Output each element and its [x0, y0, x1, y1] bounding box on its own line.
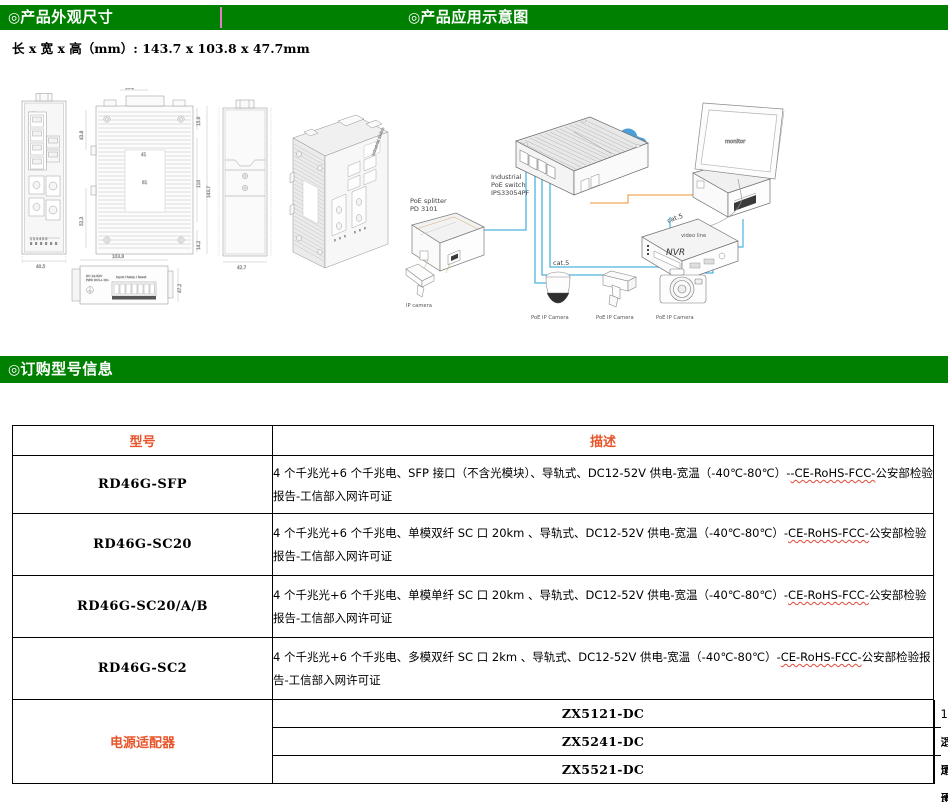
desc-text: 4 个千兆光+6 个千兆电、多模双纤 SC 口 2km 、导轨式、DC12-52… — [273, 650, 781, 664]
side-view: 42.7 — [219, 100, 271, 270]
section-header-ordering: ◎订购型号信息 — [8, 357, 113, 383]
dim-label-110: 110 — [196, 180, 201, 188]
mechanical-drawing-svg: Industrial Switch — [8, 88, 398, 328]
isometric-view: Industrial Switch — [290, 115, 388, 268]
dim-label-41: 41 — [141, 152, 147, 157]
desc-cert-flagged: CE-RoHS-FCC- — [781, 650, 862, 664]
model-name: RD46G-SC20/A/B — [13, 576, 273, 638]
switch-label-line3: IPS33054PF — [491, 189, 530, 197]
switch-label-line2: PoE switch — [491, 181, 526, 189]
switch-label-line1: Industrial — [491, 173, 522, 181]
desc-cert-flagged: CE-RoHS-FCC- — [788, 588, 869, 602]
section-header-dimensions: ◎产品外观尺寸 — [8, 5, 113, 31]
svg-text:PWR DC1+ DC-: PWR DC1+ DC- — [86, 278, 109, 282]
nvr-label: NVR — [666, 248, 685, 258]
front-view: Industrial Switch — [22, 94, 66, 270]
bullet-icon: ◎ — [8, 362, 20, 378]
bullet-ip-camera — [406, 264, 434, 297]
adapter-model: ZX5121-DC — [273, 700, 934, 728]
poe-splitter-device: PoE splitter PD 3101 IP camera — [406, 197, 484, 309]
section-header-application: ◎产品应用示意图 — [408, 5, 529, 31]
model-description: 4 个千兆光+6 个千兆电、SFP 接口（不含光模块）、导轨式、DC12-52V… — [273, 456, 934, 514]
dim-label-1038: 103.8 — [112, 254, 124, 259]
page-root: ◎产品外观尺寸 ◎产品应用示意图 长 x 宽 x 高（mm）: 143.7 x … — [0, 0, 948, 802]
adapter-description: 52V/1A，适用于 1 端口内 POE 供电和非 POE 工业交换机产品系列 — [934, 756, 941, 784]
desc-text: 4 个千兆光+6 个千兆电、单模单纤 SC 口 20km 、导轨式、DC12-5… — [273, 588, 788, 602]
bullet-icon: ◎ — [8, 10, 20, 26]
nvr-device: NVR — [642, 219, 738, 281]
adapter-description-group: 12V/1A，适用于非 POE 工业交换机产品系列。 24V/1A，适用于非 P… — [934, 700, 935, 784]
fiber-cable — [590, 195, 693, 203]
poe-switch-device: Industrial PoE switch IPS33054PF — [491, 117, 648, 197]
ordering-information-table: 型号 描述 RD46G-SFP 4 个千兆光+6 个千兆电、SFP 接口（不含光… — [12, 425, 934, 784]
monitor-label: monitor — [725, 139, 746, 145]
bottom-view: DC 12-52V PWR DC1+ DC- Input / Relay / R… — [72, 254, 182, 304]
section-title-application: 产品应用示意图 — [420, 5, 529, 30]
splitter-label-line1: PoE splitter — [410, 197, 447, 205]
dim-label-472: 47.2 — [177, 283, 182, 293]
section-bar-top: ◎产品外观尺寸 ◎产品应用示意图 — [0, 5, 948, 30]
application-diagram-group: 广域网 — [398, 95, 943, 325]
section-title-dimensions: 产品外观尺寸 — [20, 5, 113, 30]
camera-1-label: PoE IP Camera — [531, 315, 569, 321]
table-header-row: 型号 描述 — [13, 426, 934, 456]
table-row: RD46G-SFP 4 个千兆光+6 个千兆电、SFP 接口（不含光模块）、导轨… — [13, 456, 934, 514]
dim-label-width-front: 40.5 — [36, 264, 46, 269]
poe-ip-camera-1 — [546, 272, 570, 303]
adapter-description: 24V/1A，适用于非 POE 工业交换机产品系列。 — [934, 728, 941, 756]
cable-label-center: cat.5 — [553, 259, 569, 267]
section-bar-order: ◎订购型号信息 — [0, 356, 948, 383]
ip-camera-label: IP camera — [406, 303, 432, 309]
dim-label-61: 61 — [142, 180, 148, 185]
video-line-label: video line — [681, 233, 706, 239]
table-row: RD46G-SC20 4 个千兆光+6 个千兆电、单模双纤 SC 口 20km … — [13, 514, 934, 576]
svg-text:Input / Relay / Reset: Input / Relay / Reset — [116, 275, 147, 279]
svg-text:1 2 3 4 5 6: 1 2 3 4 5 6 — [30, 237, 47, 241]
table-row: 电源适配器 ZX5121-DC — [13, 700, 934, 728]
model-name: RD46G-SC20 — [13, 514, 273, 576]
dim-label-438: 43.8 — [79, 130, 84, 140]
model-description: 4 个千兆光+6 个千兆电、单模双纤 SC 口 20km 、导轨式、DC12-5… — [273, 514, 934, 576]
desc-text: 4 个千兆光+6 个千兆电、SFP 接口（不含光模块）、导轨式、DC12-52V… — [273, 466, 790, 480]
column-header-description: 描述 — [273, 426, 934, 456]
dim-label-142: 14.2 — [196, 240, 201, 250]
dim-label-1437: 143.7 — [206, 186, 211, 198]
desc-cert-flagged: CE-RoHS-FCC- — [788, 526, 869, 540]
adapter-group-label: 电源适配器 — [13, 700, 273, 784]
splitter-label-line2: PD 3101 — [410, 205, 438, 213]
mechanical-drawing-group: Industrial Switch — [8, 88, 398, 328]
model-description: 4 个千兆光+6 个千兆电、多模双纤 SC 口 2km 、导轨式、DC12-52… — [273, 638, 934, 700]
top-view: 41 61 43.8 52.3 1 — [79, 88, 211, 254]
desc-cert-flagged: -CE-RoHS-FCC- — [790, 466, 875, 480]
dim-label-159: 15.9 — [196, 116, 201, 126]
cable-label-right: cat.5 — [666, 212, 684, 225]
dim-label-192: 19.2 — [125, 88, 135, 90]
poe-ip-camera-2 — [603, 271, 636, 307]
camera-2-label: PoE IP Camera — [596, 315, 634, 321]
dim-label-523: 52.3 — [79, 216, 84, 226]
model-name: RD46G-SC2 — [13, 638, 273, 700]
column-header-model: 型号 — [13, 426, 273, 456]
application-diagram-svg: 广域网 — [398, 95, 943, 325]
dim-label-427: 42.7 — [237, 265, 247, 270]
bullet-icon: ◎ — [408, 10, 420, 26]
adapter-model: ZX5241-DC — [273, 728, 934, 756]
desc-text: 4 个千兆光+6 个千兆电、单模双纤 SC 口 20km 、导轨式、DC12-5… — [273, 526, 788, 540]
adapter-description: 12V/1A，适用于非 POE 工业交换机产品系列。 — [934, 700, 941, 728]
adapter-model: ZX5521-DC — [273, 756, 934, 784]
section-title-ordering: 订购型号信息 — [20, 357, 113, 382]
table-row: RD46G-SC2 4 个千兆光+6 个千兆电、多模双纤 SC 口 2km 、导… — [13, 638, 934, 700]
camera-3-label: PoE IP Camera — [656, 315, 694, 321]
model-description: 4 个千兆光+6 个千兆电、单模单纤 SC 口 20km 、导轨式、DC12-5… — [273, 576, 934, 638]
table-row: RD46G-SC20/A/B 4 个千兆光+6 个千兆电、单模单纤 SC 口 2… — [13, 576, 934, 638]
header-divider — [220, 7, 222, 28]
dimension-caption: 长 x 宽 x 高（mm）: 143.7 x 103.8 x 47.7mm — [12, 38, 310, 57]
model-name: RD46G-SFP — [13, 456, 273, 514]
